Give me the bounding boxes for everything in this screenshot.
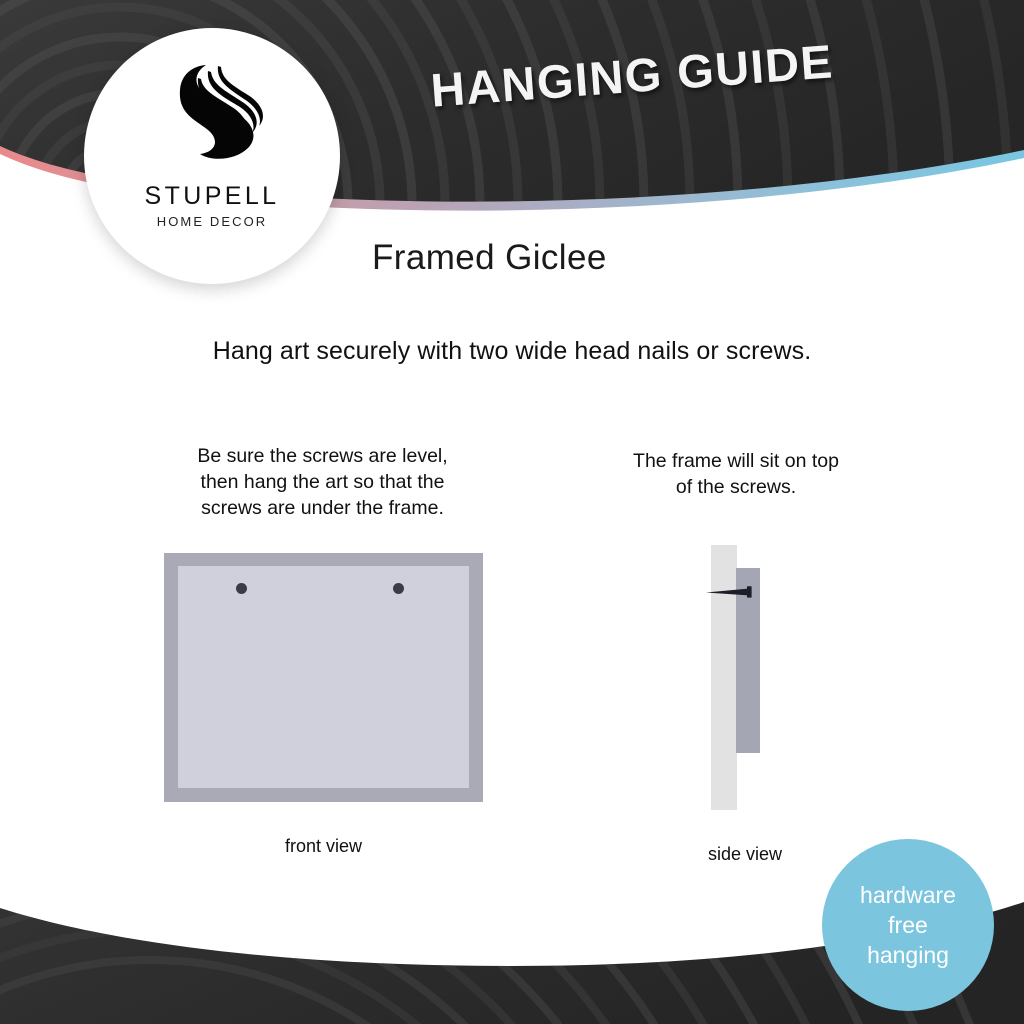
screw-dot-right [393,583,404,594]
badge-line-3: hanging [867,940,949,970]
front-instruction-line-2: then hang the art so that the [150,469,495,495]
badge-line-2: free [888,910,928,940]
product-name: Framed Giclee [372,238,607,278]
side-view-caption: side view [655,844,835,865]
front-instruction-line-3: screws are under the frame. [150,495,495,521]
side-view-instructions: The frame will sit on top of the screws. [586,448,886,500]
hanging-guide-page: HANGING GUIDE STUPELL HOME DECOR Framed … [0,0,1024,1024]
front-view-caption: front view [164,836,483,857]
front-view-art-panel [178,566,469,788]
side-view-diagram [700,545,790,810]
nail-icon [706,585,758,599]
brand-logo-badge: STUPELL HOME DECOR [84,28,340,284]
hardware-free-hanging-badge: hardware free hanging [822,839,994,1011]
lead-instruction: Hang art securely with two wide head nai… [0,337,1024,366]
front-view-diagram [164,553,483,802]
front-view-instructions: Be sure the screws are level, then hang … [150,443,495,521]
screw-dot-left [236,583,247,594]
front-instruction-line-1: Be sure the screws are level, [150,443,495,469]
logo-tagline: HOME DECOR [157,214,268,229]
side-instruction-line-1: The frame will sit on top [586,448,886,474]
badge-line-1: hardware [860,880,956,910]
logo-wordmark: STUPELL [145,182,280,211]
side-instruction-line-2: of the screws. [586,474,886,500]
stupell-swoosh-logo-icon [150,56,274,176]
